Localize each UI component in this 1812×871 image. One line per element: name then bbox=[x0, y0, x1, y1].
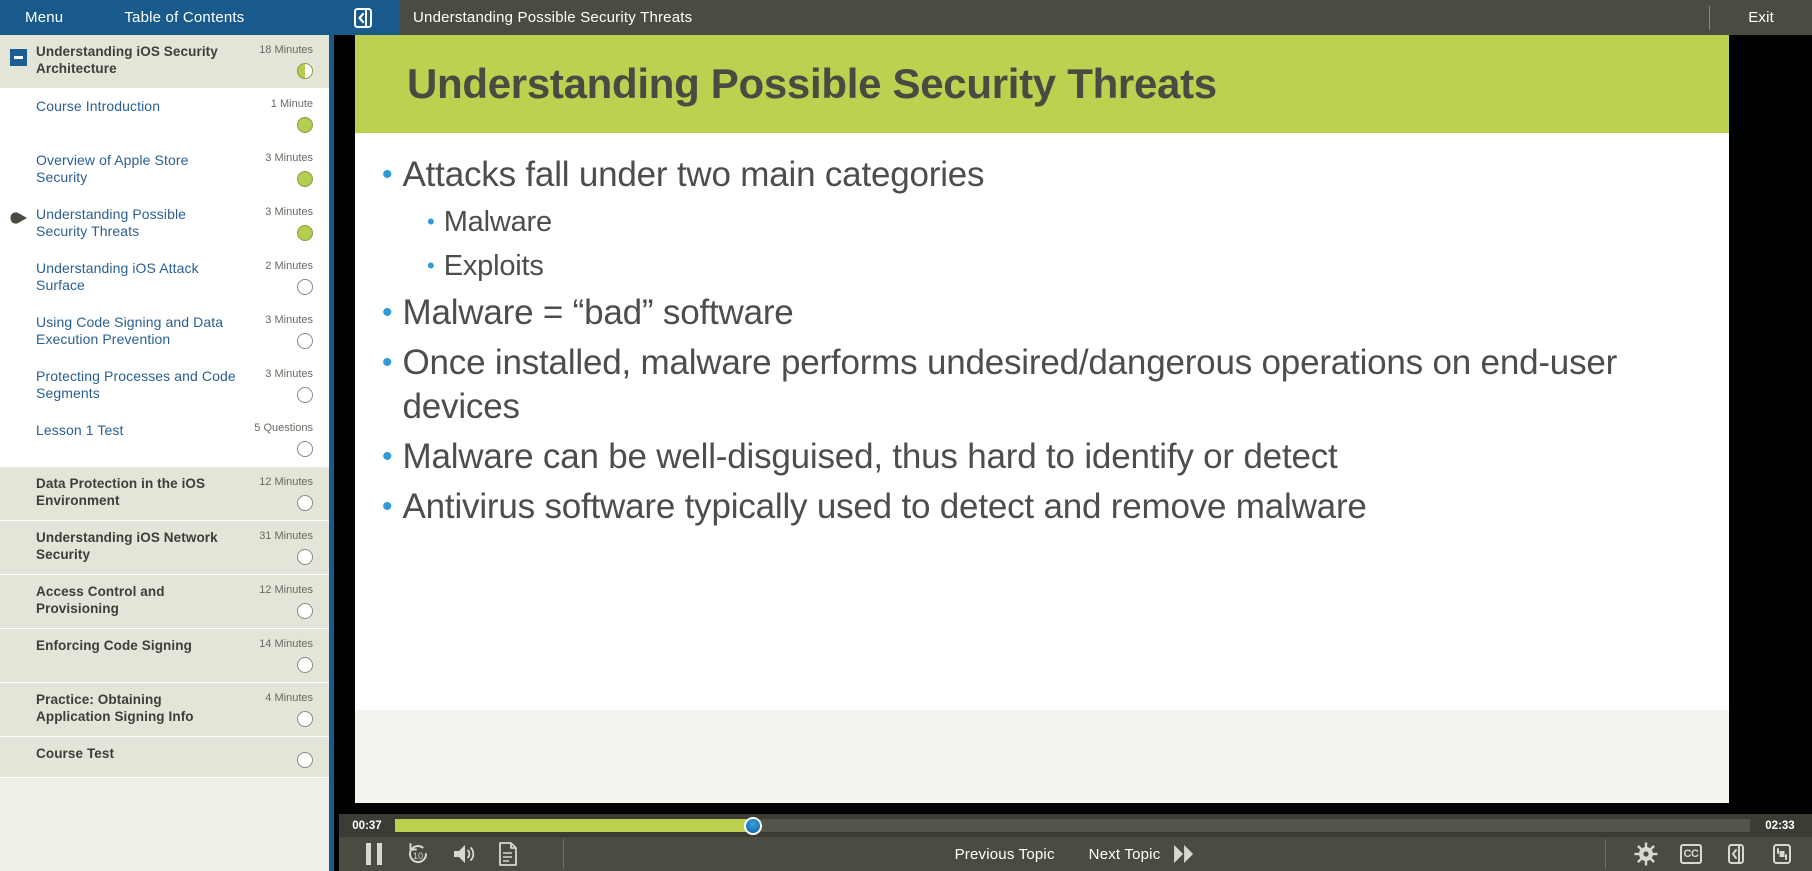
toc-item-duration: 14 Minutes bbox=[259, 638, 313, 651]
slide-title: Understanding Possible Security Threats bbox=[407, 60, 1217, 108]
course-player: Menu Table of Contents Understanding Pos… bbox=[0, 0, 1812, 871]
toc-item-marker-empty bbox=[0, 638, 36, 643]
scrubber-row: 00:37 02:33 bbox=[339, 814, 1812, 837]
toc-item-label: Understanding iOS Security Architecture bbox=[36, 44, 237, 77]
table-of-contents-panel[interactable]: Understanding iOS Security Architecture1… bbox=[0, 35, 334, 871]
svg-text:10: 10 bbox=[413, 851, 423, 861]
toc-item-meta bbox=[241, 746, 329, 768]
toc-item-label-wrap: Course Introduction bbox=[36, 98, 241, 115]
bullet-dot-icon: • bbox=[427, 203, 435, 241]
status-indicator-empty bbox=[297, 387, 313, 403]
bullet-text: Malware = “bad” software bbox=[403, 291, 794, 335]
toc-item-duration: 12 Minutes bbox=[259, 584, 313, 597]
bullet-dot-icon: • bbox=[382, 291, 393, 335]
slide-stage: Understanding Possible Security Threats … bbox=[339, 35, 1812, 814]
toc-item-label: Access Control and Provisioning bbox=[36, 584, 237, 617]
toc-item-duration: 3 Minutes bbox=[265, 206, 313, 219]
toc-item-duration: 3 Minutes bbox=[265, 152, 313, 165]
status-indicator-empty bbox=[297, 752, 313, 768]
toc-item-duration: 12 Minutes bbox=[259, 476, 313, 489]
toc-item-label: Course Test bbox=[36, 746, 237, 763]
toc-item-0[interactable]: Understanding iOS Security Architecture1… bbox=[0, 35, 329, 89]
toc-item-meta: 14 Minutes bbox=[241, 638, 329, 673]
status-indicator-partial bbox=[297, 63, 313, 79]
status-indicator-empty bbox=[297, 333, 313, 349]
player-control-bar: 00:37 02:33 10 bbox=[339, 814, 1812, 871]
toc-item-marker-empty bbox=[0, 530, 36, 535]
player-settings-controls: CC bbox=[1605, 839, 1794, 869]
toc-item-marker-empty bbox=[0, 368, 36, 373]
toc-item-marker-empty bbox=[0, 98, 36, 103]
progress-fill bbox=[395, 819, 753, 832]
toc-item-marker-empty bbox=[0, 152, 36, 157]
exit-button[interactable]: Exit bbox=[1748, 9, 1774, 26]
table-of-contents-button[interactable]: Table of Contents bbox=[124, 9, 244, 26]
toc-item-label: Course Introduction bbox=[36, 98, 237, 115]
status-indicator-empty bbox=[297, 441, 313, 457]
status-indicator-empty bbox=[297, 279, 313, 295]
bullet-dot-icon: • bbox=[382, 435, 393, 479]
transcript-icon[interactable] bbox=[497, 841, 519, 867]
toc-item-duration: 31 Minutes bbox=[259, 530, 313, 543]
slide-title-banner: Understanding Possible Security Threats bbox=[355, 35, 1729, 133]
toc-item-meta: 3 Minutes bbox=[241, 152, 329, 187]
toc-item-label-wrap: Course Test bbox=[36, 746, 241, 763]
toc-item-1[interactable]: Course Introduction1 Minute bbox=[0, 89, 329, 143]
toc-item-marker-empty bbox=[0, 314, 36, 319]
toc-item-label-wrap: Practice: Obtaining Application Signing … bbox=[36, 692, 241, 725]
pause-icon[interactable] bbox=[363, 841, 385, 867]
slide-bullet: •Exploits bbox=[427, 247, 1689, 285]
current-topic-pointer-icon bbox=[0, 206, 36, 225]
toc-item-meta: 4 Minutes bbox=[241, 692, 329, 727]
toc-item-duration: 4 Minutes bbox=[265, 692, 313, 705]
cc-icon[interactable]: CC bbox=[1680, 844, 1702, 864]
slide: Understanding Possible Security Threats … bbox=[355, 35, 1729, 803]
player-buttons-row: 10 bbox=[339, 837, 1812, 871]
status-indicator-empty bbox=[297, 495, 313, 511]
slide-bullet: •Malware bbox=[427, 203, 1689, 241]
slide-bullet: •Malware can be well-disguised, thus har… bbox=[382, 435, 1689, 479]
toc-item-duration: 1 Minute bbox=[271, 98, 313, 111]
status-indicator-complete bbox=[297, 117, 313, 133]
elapsed-time: 00:37 bbox=[339, 820, 395, 832]
slide-bullet: •Attacks fall under two main categories bbox=[382, 153, 1689, 197]
toc-item-label-wrap: Understanding iOS Security Architecture bbox=[36, 44, 241, 77]
bullet-dot-icon: • bbox=[382, 341, 393, 385]
toc-item-duration: 18 Minutes bbox=[259, 44, 313, 57]
toc-item-8[interactable]: Data Protection in the iOS Environment12… bbox=[0, 467, 329, 521]
toc-item-3[interactable]: Understanding Possible Security Threats3… bbox=[0, 197, 329, 251]
toc-item-meta: 3 Minutes bbox=[241, 368, 329, 403]
toc-item-label-wrap: Data Protection in the iOS Environment bbox=[36, 476, 241, 509]
toc-item-label-wrap: Lesson 1 Test bbox=[36, 422, 241, 439]
slide-body: •Attacks fall under two main categories•… bbox=[355, 133, 1729, 529]
toc-item-label-wrap: Understanding Possible Security Threats bbox=[36, 206, 241, 239]
toc-item-6[interactable]: Protecting Processes and Code Segments3 … bbox=[0, 359, 329, 413]
toc-item-meta: 12 Minutes bbox=[241, 476, 329, 511]
collapse-panel-left-icon[interactable] bbox=[348, 3, 378, 32]
toc-item-label-wrap: Access Control and Provisioning bbox=[36, 584, 241, 617]
status-indicator-complete bbox=[297, 225, 313, 241]
toc-item-label: Understanding iOS Network Security bbox=[36, 530, 237, 563]
toc-item-marker-empty bbox=[0, 692, 36, 697]
slide-bullet: •Malware = “bad” software bbox=[382, 291, 1689, 335]
toc-item-marker-empty bbox=[0, 260, 36, 265]
toc-item-12[interactable]: Practice: Obtaining Application Signing … bbox=[0, 683, 329, 737]
scrubber-handle[interactable] bbox=[744, 817, 762, 835]
total-time: 02:33 bbox=[1752, 820, 1808, 832]
bullet-text: Attacks fall under two main categories bbox=[403, 153, 985, 197]
toc-item-label: Understanding iOS Attack Surface bbox=[36, 260, 237, 293]
status-indicator-complete bbox=[297, 171, 313, 187]
top-bar-left: Menu Table of Contents bbox=[0, 0, 400, 35]
toc-item-marker-empty bbox=[0, 584, 36, 589]
toc-item-13[interactable]: Course Test bbox=[0, 737, 329, 778]
controls-divider bbox=[563, 839, 564, 869]
bullet-text: Once installed, malware performs undesir… bbox=[403, 341, 1689, 429]
toc-item-marker-empty bbox=[0, 422, 36, 427]
toc-item-duration: 3 Minutes bbox=[265, 368, 313, 381]
fullscreen-icon[interactable] bbox=[1770, 842, 1794, 866]
toc-item-label: Practice: Obtaining Application Signing … bbox=[36, 692, 237, 725]
toc-item-label-wrap: Overview of Apple Store Security bbox=[36, 152, 241, 185]
panel-left-icon[interactable] bbox=[1724, 842, 1748, 866]
slide-bullet: •Once installed, malware performs undesi… bbox=[382, 341, 1689, 429]
toc-item-2[interactable]: Overview of Apple Store Security3 Minute… bbox=[0, 143, 329, 197]
toc-item-label: Using Code Signing and Data Execution Pr… bbox=[36, 314, 237, 347]
toc-item-marker-empty bbox=[0, 746, 36, 751]
toc-item-meta: 3 Minutes bbox=[241, 206, 329, 241]
toc-item-label-wrap: Protecting Processes and Code Segments bbox=[36, 368, 241, 401]
previous-topic-button[interactable]: Previous Topic bbox=[955, 846, 1055, 863]
menu-button[interactable]: Menu bbox=[25, 9, 63, 26]
toc-item-meta: 5 Questions bbox=[241, 422, 329, 457]
gear-icon[interactable] bbox=[1634, 842, 1658, 866]
toc-item-meta: 31 Minutes bbox=[241, 530, 329, 565]
toc-item-11[interactable]: Enforcing Code Signing14 Minutes bbox=[0, 629, 329, 683]
slide-bullet: •Antivirus software typically used to de… bbox=[382, 485, 1689, 529]
status-indicator-empty bbox=[297, 549, 313, 565]
toc-item-label-wrap: Understanding iOS Network Security bbox=[36, 530, 241, 563]
toc-item-label: Data Protection in the iOS Environment bbox=[36, 476, 237, 509]
bullet-dot-icon: • bbox=[427, 247, 435, 285]
slide-footer bbox=[355, 709, 1729, 803]
bullet-dot-icon: • bbox=[382, 153, 393, 197]
toc-item-label: Understanding Possible Security Threats bbox=[36, 206, 237, 239]
toc-item-duration: 5 Questions bbox=[254, 422, 313, 435]
toc-item-meta: 12 Minutes bbox=[241, 584, 329, 619]
toc-item-marker-empty bbox=[0, 476, 36, 481]
volume-icon[interactable] bbox=[451, 842, 477, 866]
next-chevrons-icon bbox=[1170, 843, 1196, 865]
toc-item-meta: 18 Minutes bbox=[241, 44, 329, 79]
collapse-module-button[interactable] bbox=[0, 44, 36, 66]
toc-item-meta: 2 Minutes bbox=[241, 260, 329, 295]
toc-item-label-wrap: Using Code Signing and Data Execution Pr… bbox=[36, 314, 241, 347]
toc-item-duration: 3 Minutes bbox=[265, 314, 313, 327]
bullet-text: Malware can be well-disguised, thus hard… bbox=[403, 435, 1338, 479]
toc-item-label: Lesson 1 Test bbox=[36, 422, 237, 439]
exit-area: Exit bbox=[1709, 0, 1812, 35]
status-indicator-empty bbox=[297, 711, 313, 727]
status-indicator-empty bbox=[297, 657, 313, 673]
toc-item-meta: 1 Minute bbox=[241, 98, 329, 133]
toc-item-label: Enforcing Code Signing bbox=[36, 638, 237, 655]
toc-item-label-wrap: Enforcing Code Signing bbox=[36, 638, 241, 655]
minus-icon[interactable] bbox=[10, 49, 27, 66]
right-controls-divider bbox=[1605, 839, 1606, 869]
toc-item-5[interactable]: Using Code Signing and Data Execution Pr… bbox=[0, 305, 329, 359]
toc-item-7[interactable]: Lesson 1 Test5 Questions bbox=[0, 413, 329, 467]
toc-item-9[interactable]: Understanding iOS Network Security31 Min… bbox=[0, 521, 329, 575]
toc-item-10[interactable]: Access Control and Provisioning12 Minute… bbox=[0, 575, 329, 629]
toc-item-meta: 3 Minutes bbox=[241, 314, 329, 349]
toc-item-duration: 2 Minutes bbox=[265, 260, 313, 273]
top-bar-right: Understanding Possible Security Threats … bbox=[400, 0, 1812, 35]
bullet-text: Exploits bbox=[444, 247, 544, 285]
next-topic-button[interactable]: Next Topic bbox=[1089, 843, 1197, 865]
progress-scrubber[interactable] bbox=[395, 819, 1750, 832]
next-topic-label: Next Topic bbox=[1089, 846, 1161, 863]
bullet-text: Malware bbox=[444, 203, 552, 241]
top-bar: Menu Table of Contents Understanding Pos… bbox=[0, 0, 1812, 35]
toc-item-4[interactable]: Understanding iOS Attack Surface2 Minute… bbox=[0, 251, 329, 305]
toc-item-label: Overview of Apple Store Security bbox=[36, 152, 237, 185]
replay-10-icon[interactable]: 10 bbox=[405, 841, 431, 867]
toc-item-label: Protecting Processes and Code Segments bbox=[36, 368, 237, 401]
topic-navigation: Previous Topic Next Topic bbox=[955, 843, 1197, 865]
bullet-text: Antivirus software typically used to det… bbox=[403, 485, 1367, 529]
toc-item-label-wrap: Understanding iOS Attack Surface bbox=[36, 260, 241, 293]
top-bar-divider bbox=[1709, 6, 1710, 30]
bullet-dot-icon: • bbox=[382, 485, 393, 529]
current-topic-title: Understanding Possible Security Threats bbox=[413, 9, 692, 26]
playback-controls: 10 bbox=[339, 839, 564, 869]
status-indicator-empty bbox=[297, 603, 313, 619]
